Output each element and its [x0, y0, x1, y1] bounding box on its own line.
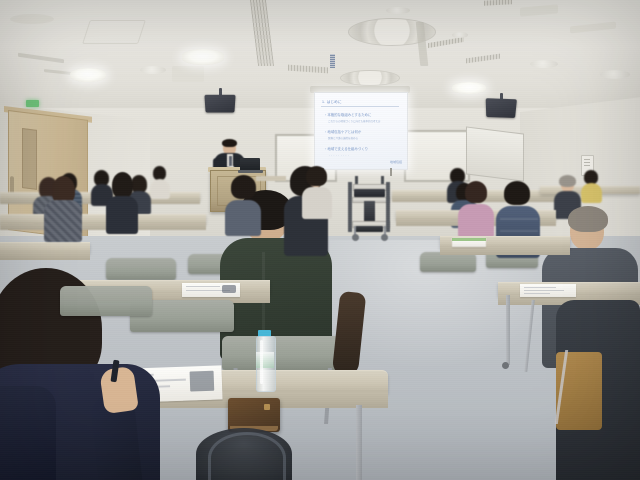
av-equipment-cart	[352, 176, 388, 238]
chair-foreground-right[interactable]	[222, 336, 340, 370]
handout-right-1-band	[452, 238, 486, 241]
chair-foreground-left[interactable]	[60, 286, 152, 316]
side-table	[256, 176, 286, 181]
dark-object-rim	[208, 432, 286, 480]
cart-frame-right	[386, 182, 390, 232]
hand	[99, 366, 139, 414]
desk-left-2-front	[0, 252, 90, 260]
attendee-bottom-left-edge	[0, 386, 56, 480]
desk-front-mid-left	[0, 223, 206, 230]
laptop-base	[238, 170, 263, 173]
chair-mid-right[interactable]	[420, 252, 476, 272]
cart-frame-left	[348, 182, 352, 232]
bottle-label	[256, 352, 274, 368]
handout-right-2	[520, 284, 576, 297]
chair-mid-left[interactable]	[106, 258, 176, 280]
handout-center-mid	[182, 283, 240, 297]
desk-leg-right-1	[506, 295, 510, 365]
desk-right-1-front	[440, 247, 570, 255]
desk-foreground-leg	[356, 405, 362, 480]
caster-right-1	[502, 362, 509, 369]
seminar-room-photo: 1. はじめに ・本格的な取組みとするために これからの地域づくりに向けた基本的…	[0, 0, 640, 480]
